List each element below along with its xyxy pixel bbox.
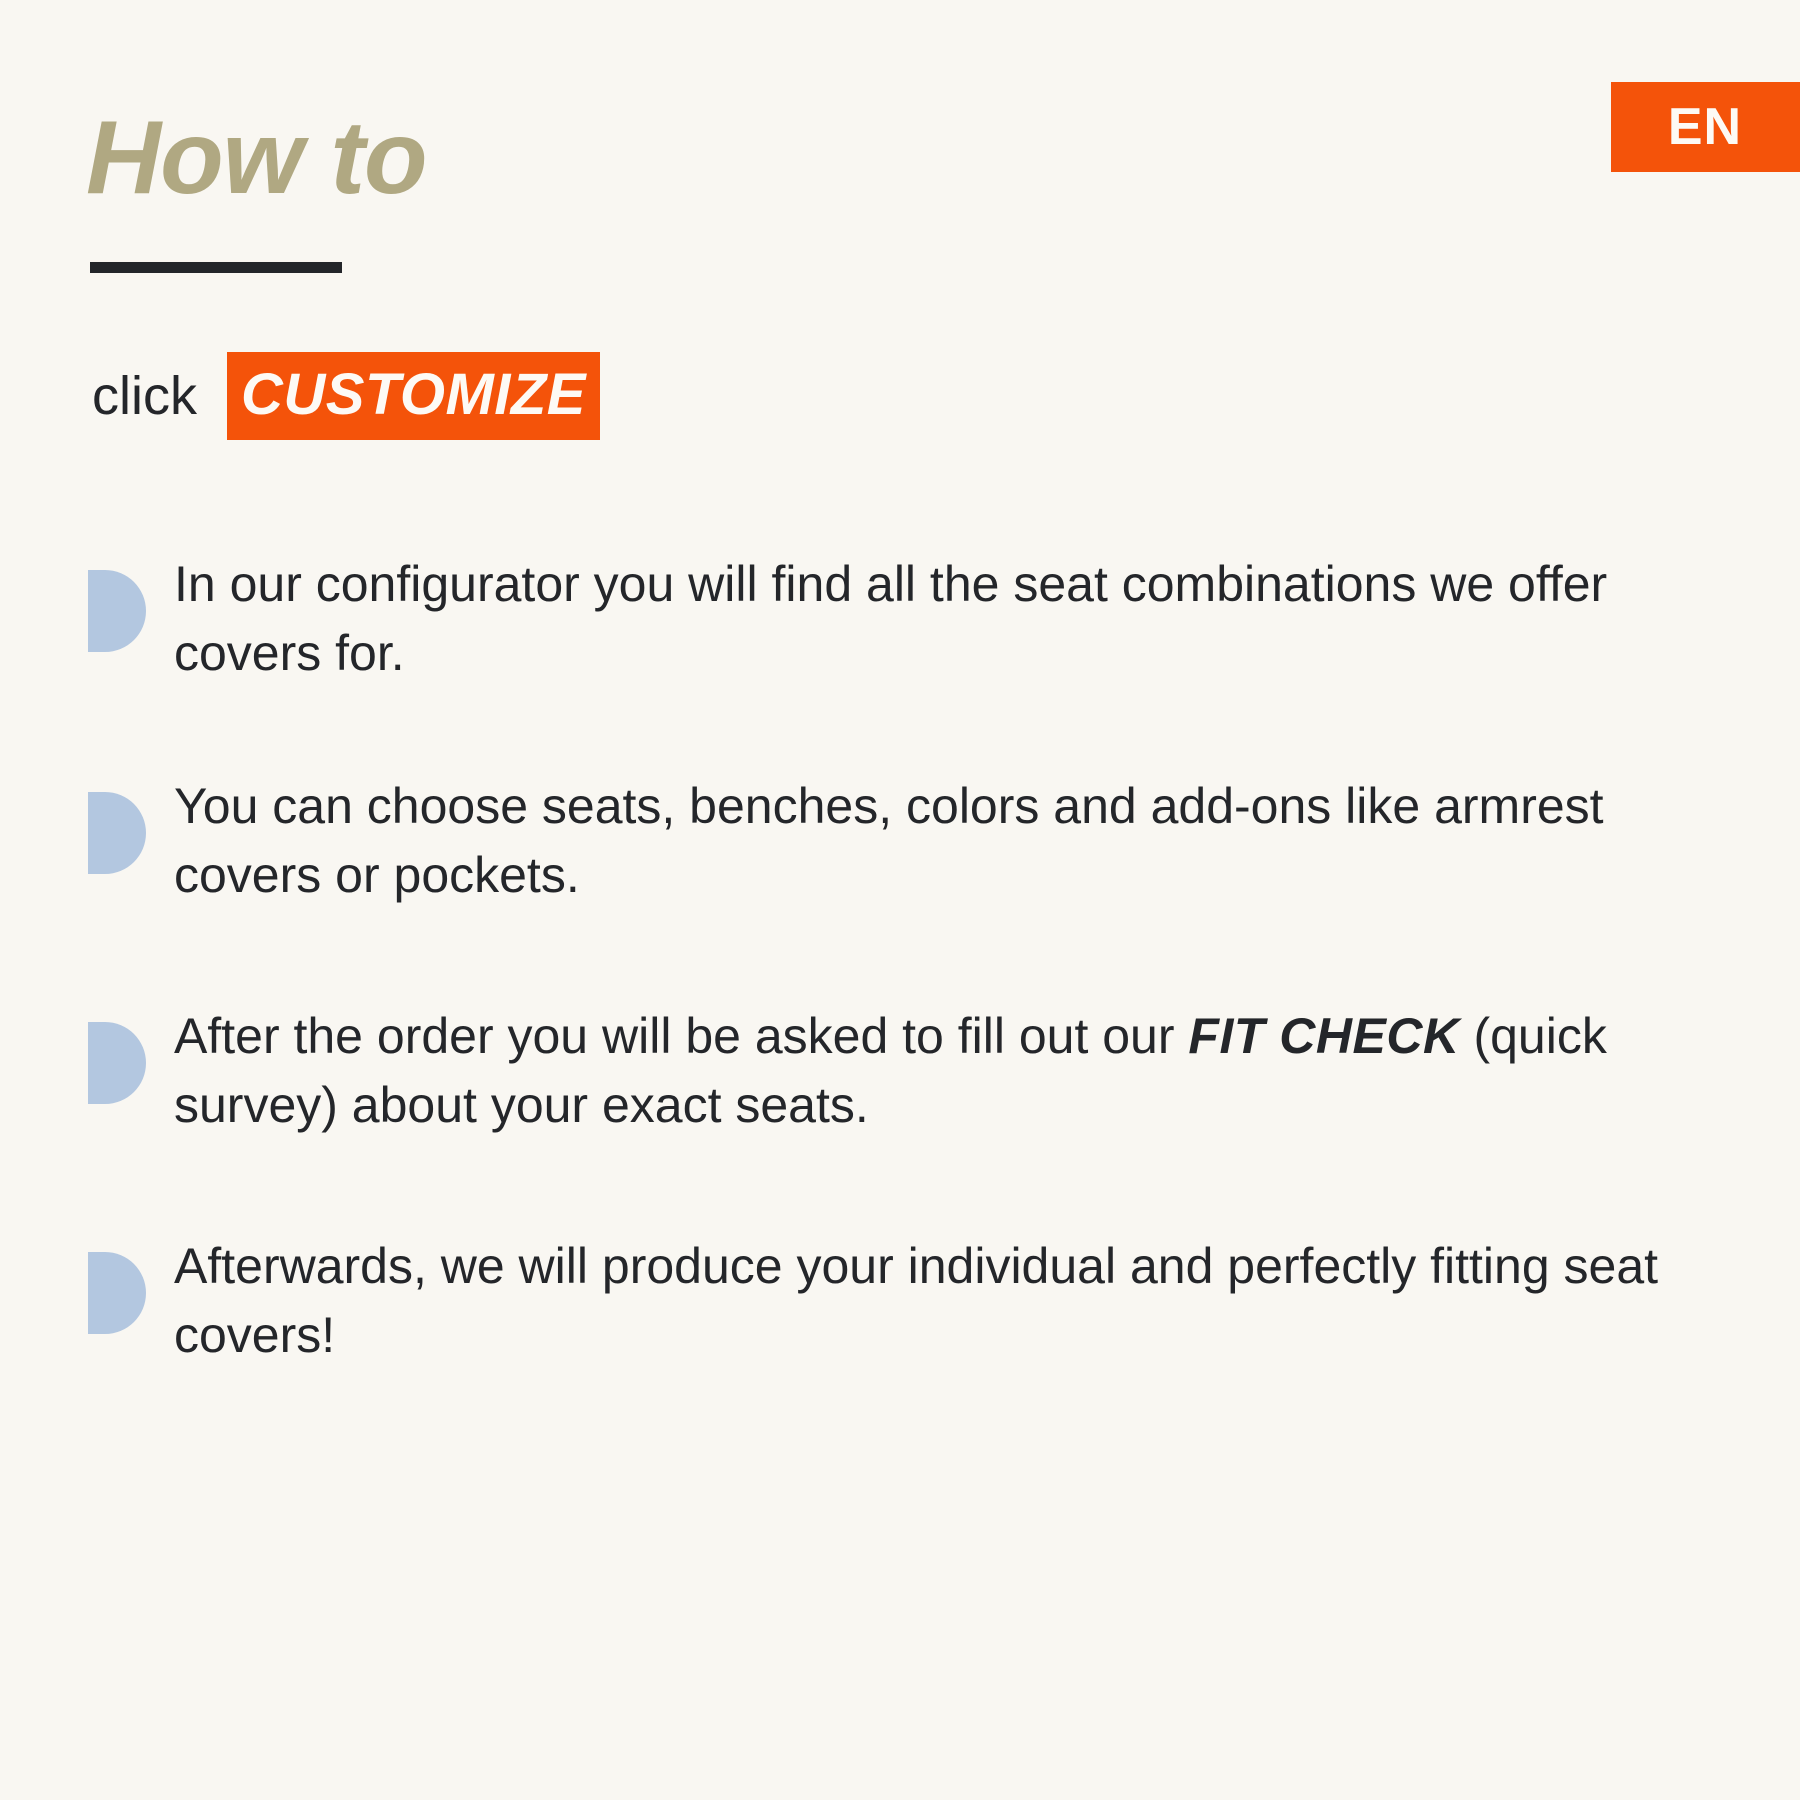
page-title: How to	[86, 104, 427, 213]
cta-prefix-label: click	[92, 369, 227, 423]
bullet-marker-icon	[88, 570, 146, 652]
step-text: You can choose seats, benches, colors an…	[174, 770, 1714, 910]
bullet-marker-icon	[88, 1252, 146, 1334]
step-text: In our configurator you will find all th…	[174, 548, 1714, 688]
step-text: Afterwards, we will produce your individ…	[174, 1230, 1714, 1370]
bullet-marker-icon	[88, 792, 146, 874]
how-to-card: EN How to click CUSTOMIZE In our configu…	[0, 0, 1800, 1800]
bullet-marker-icon	[88, 1022, 146, 1104]
language-badge-label: EN	[1668, 101, 1742, 153]
step-text-before: After the order you will be asked to fil…	[174, 1008, 1188, 1064]
steps-list: In our configurator you will find all th…	[88, 548, 1748, 1370]
list-item: In our configurator you will find all th…	[88, 548, 1748, 688]
language-badge[interactable]: EN	[1611, 82, 1800, 172]
list-item: Afterwards, we will produce your individ…	[88, 1230, 1748, 1370]
customize-button[interactable]: CUSTOMIZE	[227, 352, 600, 440]
step-text-emphasis: FIT CHECK	[1188, 1008, 1459, 1064]
call-to-action: click CUSTOMIZE	[92, 352, 600, 440]
step-text: After the order you will be asked to fil…	[174, 1000, 1714, 1140]
title-underline-rule	[90, 262, 342, 273]
list-item: After the order you will be asked to fil…	[88, 1000, 1748, 1140]
list-item: You can choose seats, benches, colors an…	[88, 770, 1748, 910]
